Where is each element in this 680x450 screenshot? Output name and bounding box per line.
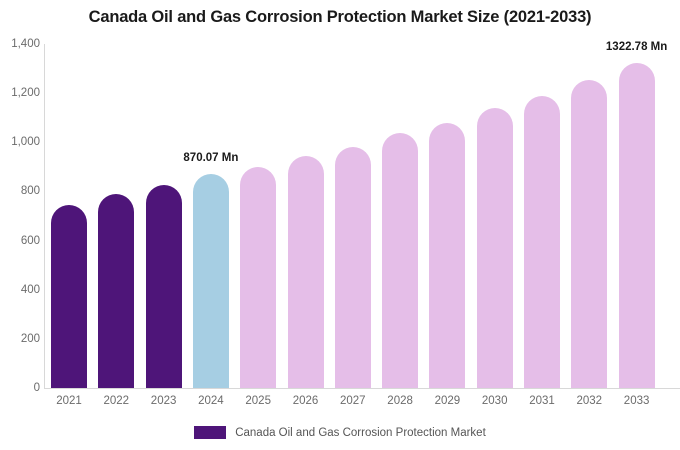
- chart-legend: Canada Oil and Gas Corrosion Protection …: [0, 426, 680, 439]
- bar-2028[interactable]: [382, 133, 418, 388]
- bar-fill: [477, 108, 513, 388]
- x-axis-tick-label: 2024: [193, 395, 229, 407]
- x-axis-tick-label: 2022: [98, 395, 134, 407]
- x-axis-tick-label: 2026: [288, 395, 324, 407]
- bar-fill: [429, 123, 465, 388]
- chart-container: Canada Oil and Gas Corrosion Protection …: [0, 0, 680, 450]
- bar-2029[interactable]: [429, 123, 465, 388]
- bar-fill: [335, 147, 371, 388]
- bar-fill: [240, 167, 276, 388]
- bar-fill: [51, 205, 87, 388]
- bar-fill: [146, 185, 182, 388]
- bar-2030[interactable]: [477, 108, 513, 388]
- x-axis-tick-label: 2021: [51, 395, 87, 407]
- bar-fill: [571, 80, 607, 388]
- bar-fill: [382, 133, 418, 388]
- legend-label: Canada Oil and Gas Corrosion Protection …: [235, 427, 486, 439]
- bars-layer: 2021202220232024202520262027202820292030…: [0, 0, 680, 450]
- x-axis-tick-label: 2027: [335, 395, 371, 407]
- legend-swatch: [194, 426, 226, 439]
- bar-2031[interactable]: [524, 96, 560, 388]
- bar-2032[interactable]: [571, 80, 607, 388]
- x-axis-tick-label: 2031: [524, 395, 560, 407]
- bar-2025[interactable]: [240, 167, 276, 388]
- bar-fill: [619, 63, 655, 388]
- x-axis-tick-label: 2025: [240, 395, 276, 407]
- bar-2023[interactable]: [146, 185, 182, 388]
- x-axis-tick-label: 2023: [146, 395, 182, 407]
- bar-2021[interactable]: [51, 205, 87, 388]
- x-axis-tick-label: 2032: [571, 395, 607, 407]
- bar-fill: [288, 156, 324, 388]
- x-axis-tick-label: 2030: [477, 395, 513, 407]
- bar-value-label: 1322.78 Mn: [606, 41, 667, 53]
- x-axis-tick-label: 2028: [382, 395, 418, 407]
- bar-fill: [98, 194, 134, 388]
- bar-2033[interactable]: [619, 63, 655, 388]
- x-axis-tick-label: 2033: [619, 395, 655, 407]
- x-axis-tick-label: 2029: [429, 395, 465, 407]
- bar-2024[interactable]: [193, 174, 229, 388]
- bar-fill: [193, 174, 229, 388]
- bar-2022[interactable]: [98, 194, 134, 388]
- bar-value-label: 870.07 Mn: [183, 152, 238, 164]
- bar-fill: [524, 96, 560, 388]
- bar-2026[interactable]: [288, 156, 324, 388]
- bar-2027[interactable]: [335, 147, 371, 388]
